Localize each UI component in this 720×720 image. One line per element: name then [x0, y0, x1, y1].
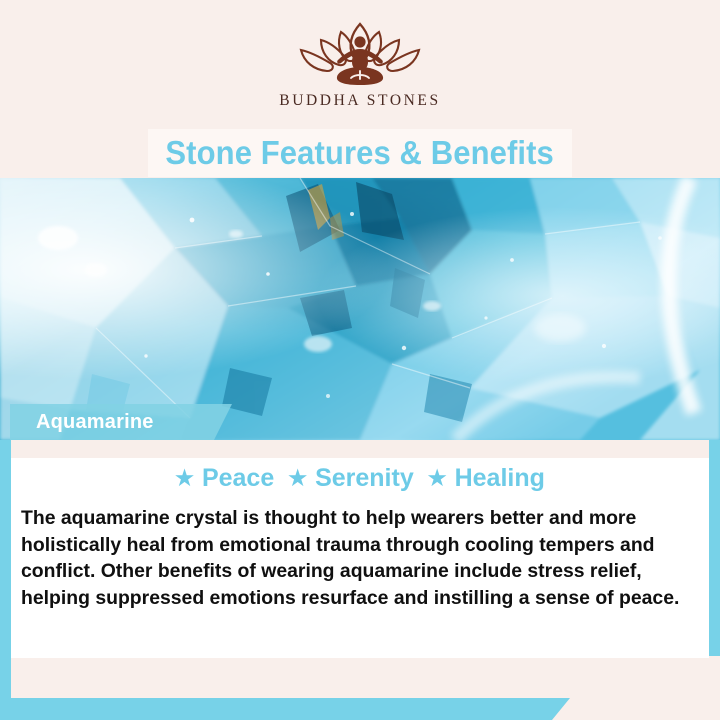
brand-logo: BUDDHA STONES — [0, 18, 720, 110]
brand-name: BUDDHA STONES — [279, 92, 440, 110]
keyword-label: Healing — [455, 464, 545, 493]
description-text: The aquamarine crystal is thought to hel… — [21, 505, 699, 611]
keyword-item-healing: ★ Healing — [428, 464, 545, 493]
keyword-item-peace: ★ Peace — [175, 464, 274, 493]
keyword-label: Serenity — [315, 464, 414, 493]
star-icon: ★ — [288, 468, 307, 489]
title-banner: Stone Features & Benefits — [148, 129, 572, 177]
keyword-label: Peace — [202, 464, 274, 493]
aquamarine-crystal-photo — [0, 178, 720, 440]
content-panel: ★ Peace ★ Serenity ★ Healing The aquamar… — [11, 458, 709, 658]
cream-divider-strip — [11, 440, 709, 458]
keyword-list: ★ Peace ★ Serenity ★ Healing — [11, 458, 709, 493]
page-title: Stone Features & Benefits — [166, 134, 554, 172]
stone-name-band: Aquamarine — [10, 404, 232, 440]
star-icon: ★ — [175, 468, 194, 489]
lotus-meditation-icon — [275, 18, 445, 88]
crystal-texture — [0, 178, 720, 440]
frame-edge-bottom — [0, 698, 570, 720]
star-icon: ★ — [428, 468, 447, 489]
keyword-item-serenity: ★ Serenity — [288, 464, 414, 493]
stone-name-label: Aquamarine — [36, 411, 154, 434]
infographic-card: BUDDHA STONES Stone Features & Benefits — [0, 0, 720, 720]
